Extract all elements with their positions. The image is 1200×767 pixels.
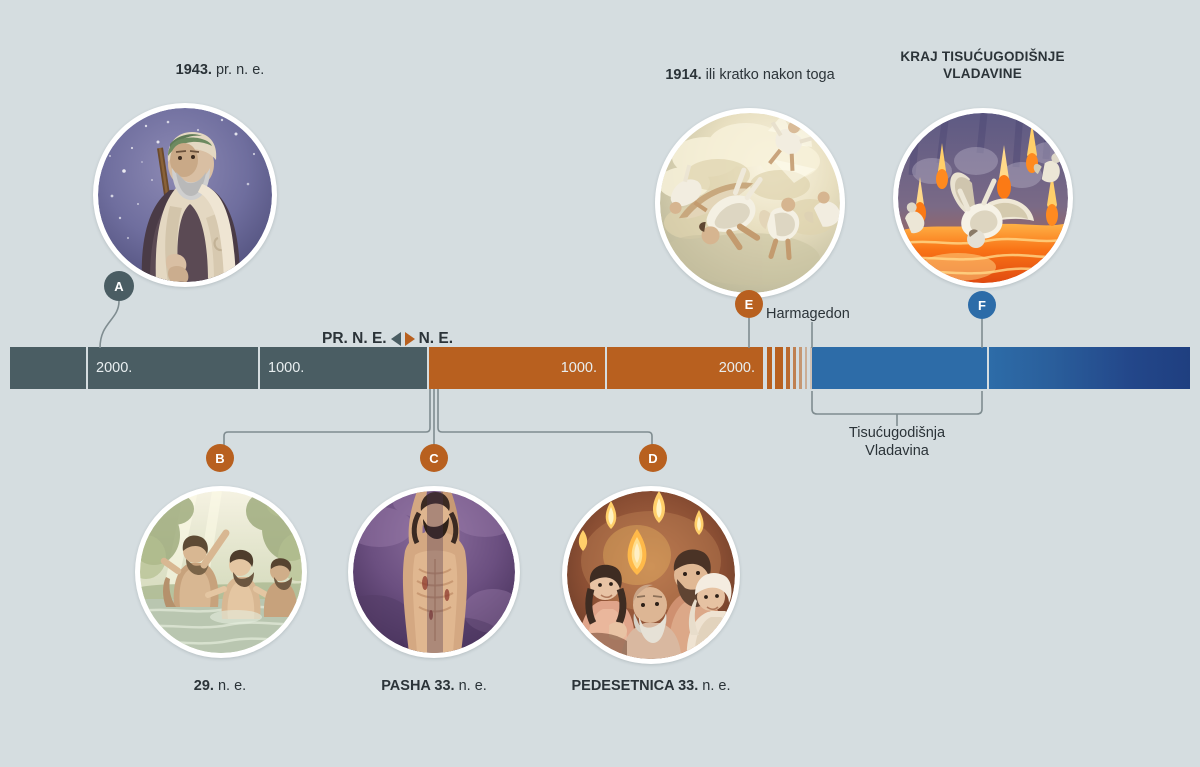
- badge-f[interactable]: F: [968, 291, 996, 319]
- jesus-baptism-illustration: [140, 491, 302, 653]
- caption-c-bold: PASHA 33.: [381, 678, 454, 694]
- bracket-millennium: [812, 391, 982, 414]
- badge-e[interactable]: E: [735, 290, 763, 318]
- caption-d-regular: n. e.: [702, 678, 730, 694]
- badge-f-label: F: [978, 298, 986, 313]
- caption-c-regular: n. e.: [459, 678, 487, 694]
- transition-stripe-5: [799, 347, 802, 389]
- image-event-b: [135, 486, 307, 658]
- caption-event-f: KRAJ TISUĆUGODIŠNJE VLADAVINE: [880, 48, 1085, 82]
- segment-millennium-1[interactable]: [812, 347, 987, 389]
- transition-stripe-3: [786, 347, 790, 389]
- badge-c-label: C: [429, 451, 438, 466]
- pentecost-holy-spirit-illustration: [567, 491, 735, 659]
- caption-b-regular: n. e.: [218, 678, 246, 694]
- segment-ce-1000[interactable]: 1000.: [429, 347, 605, 389]
- era-marker: PR. N. E. N. E.: [322, 330, 453, 348]
- caption-e-regular: ili kratko nakon toga: [706, 67, 835, 83]
- satan-cast-from-heaven-illustration: [660, 113, 840, 293]
- caption-a-regular: pr. n. e.: [216, 62, 264, 78]
- segment-bce-1000[interactable]: 1000.: [260, 347, 427, 389]
- bracket-line-1: Tisućugodišnja: [802, 424, 992, 442]
- triangle-left-icon: [391, 332, 401, 346]
- badge-a-label: A: [114, 279, 123, 294]
- transition-stripe-4: [793, 347, 796, 389]
- image-event-c: [348, 486, 520, 658]
- badge-d[interactable]: D: [639, 444, 667, 472]
- transition-stripe-1: [767, 347, 772, 389]
- caption-b-bold: 29.: [194, 678, 214, 694]
- badge-c[interactable]: C: [420, 444, 448, 472]
- era-label-bce: PR. N. E.: [322, 330, 387, 348]
- caption-d-bold: PEDESETNICA 33.: [571, 678, 698, 694]
- caption-event-c: PASHA 33. n. e.: [334, 678, 534, 695]
- caption-e-bold: 1914.: [665, 67, 701, 83]
- segment-bce-3000[interactable]: [10, 347, 86, 389]
- badge-e-label: E: [745, 297, 754, 312]
- caption-a-bold: 1943.: [176, 62, 212, 78]
- transition-stripe-2: [775, 347, 783, 389]
- label-millennium-bracket: Tisućugodišnja Vladavina: [802, 424, 992, 460]
- badge-b[interactable]: B: [206, 444, 234, 472]
- caption-event-a: 1943. pr. n. e.: [70, 62, 370, 79]
- segment-ce-2000[interactable]: 2000.: [607, 347, 763, 389]
- caption-event-d: PEDESETNICA 33. n. e.: [551, 678, 751, 695]
- satan-destroyed-fire-illustration: [898, 113, 1068, 283]
- jesus-death-stake-illustration: [353, 491, 515, 653]
- segment-bce-2000[interactable]: 2000.: [88, 347, 258, 389]
- timeline-bar: 2000. 1000. 1000. 2000.: [10, 347, 1190, 389]
- era-label-ce: N. E.: [419, 330, 453, 348]
- caption-event-e: 1914. ili kratko nakon toga: [600, 67, 900, 84]
- badge-b-label: B: [215, 451, 224, 466]
- bracket-line-2: Vladavina: [802, 442, 992, 460]
- label-harmagedon: Harmagedon: [766, 306, 850, 322]
- wire-b: [224, 389, 430, 462]
- abraham-starry-sky-illustration: [98, 108, 272, 282]
- segment-millennium-2[interactable]: [989, 347, 1190, 389]
- image-event-e: [655, 108, 845, 298]
- wire-d: [438, 389, 652, 462]
- image-event-f: [893, 108, 1073, 288]
- triangle-right-icon: [405, 332, 415, 346]
- timeline-infographic: 1943. pr. n. e. 1914. ili kratko nakon t…: [0, 0, 1200, 767]
- caption-event-b: 29. n. e.: [120, 678, 320, 695]
- badge-a[interactable]: A: [104, 271, 134, 301]
- image-event-d: [562, 486, 740, 664]
- transition-stripe-6: [805, 347, 807, 389]
- wire-a: [100, 301, 119, 348]
- badge-d-label: D: [648, 451, 657, 466]
- image-event-a: [93, 103, 277, 287]
